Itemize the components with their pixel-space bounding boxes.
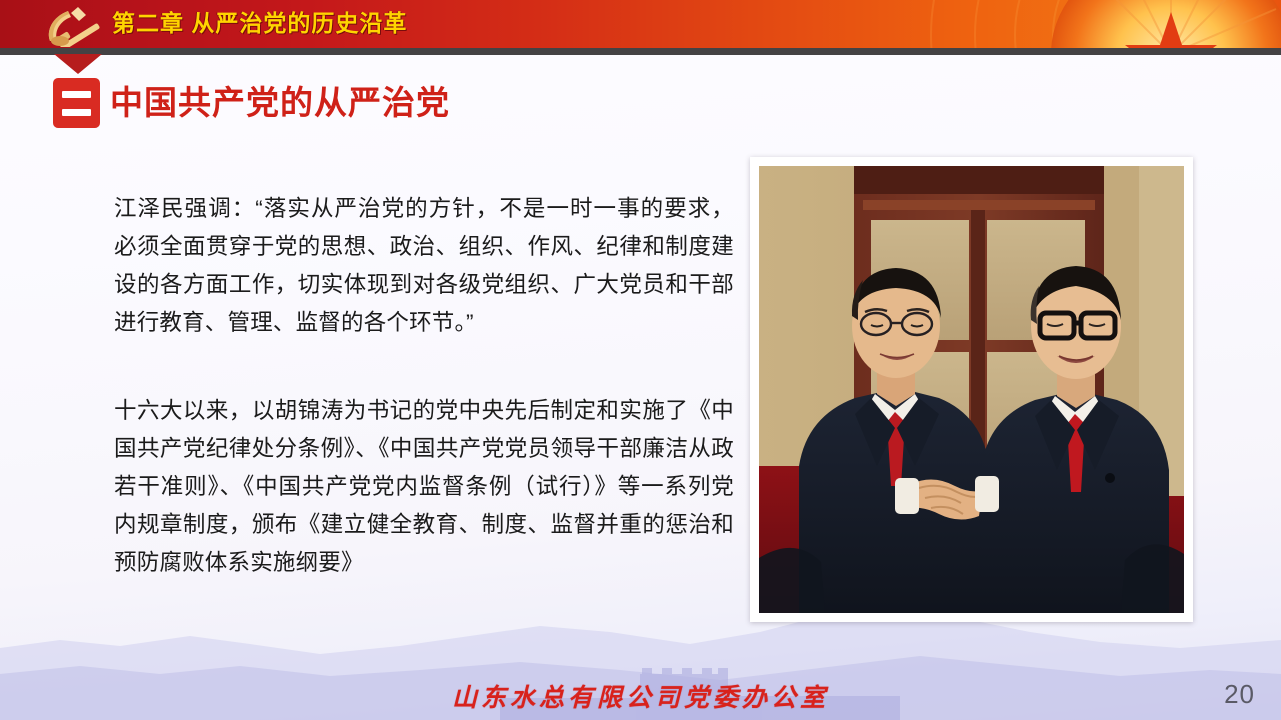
banner-underline (0, 48, 1281, 55)
paragraph-jiang-zemin-quote: 江泽民强调：“落实从严治党的方针，不是一时一事的要求，必须全面贯穿于党的思想、政… (114, 190, 734, 342)
page-title: 中国共产党的从严治党 (110, 81, 450, 125)
hammer-and-sickle-icon (34, 3, 120, 47)
footer-organization: 山东水总有限公司党委办公室 (0, 678, 1281, 714)
banner-ring-decoration (851, 0, 1271, 48)
handshake-photo (759, 166, 1184, 613)
triangle-down-icon (54, 54, 102, 74)
star-icon (1125, 12, 1217, 48)
slide-root: 第二章 从严治党的历史沿革 中国共产党的从严治党 江泽民强调：“落实从严治党的方… (0, 0, 1281, 720)
banner-starburst-decoration (1021, 0, 1281, 48)
paragraph-regulations-since-16th-congress: 十六大以来，以胡锦涛为书记的党中央先后制定和实施了《中国共产党纪律处分条例》、《… (114, 392, 734, 582)
section-number-badge (53, 78, 100, 128)
chapter-title: 第二章 从严治党的历史沿革 (112, 7, 407, 39)
handshake-photo-frame (750, 157, 1193, 622)
page-number: 20 (1224, 679, 1255, 710)
section-number-stroke-bottom (62, 109, 91, 116)
chapter-banner: 第二章 从严治党的历史沿革 (0, 0, 1281, 48)
section-number-stroke-top (62, 91, 91, 98)
